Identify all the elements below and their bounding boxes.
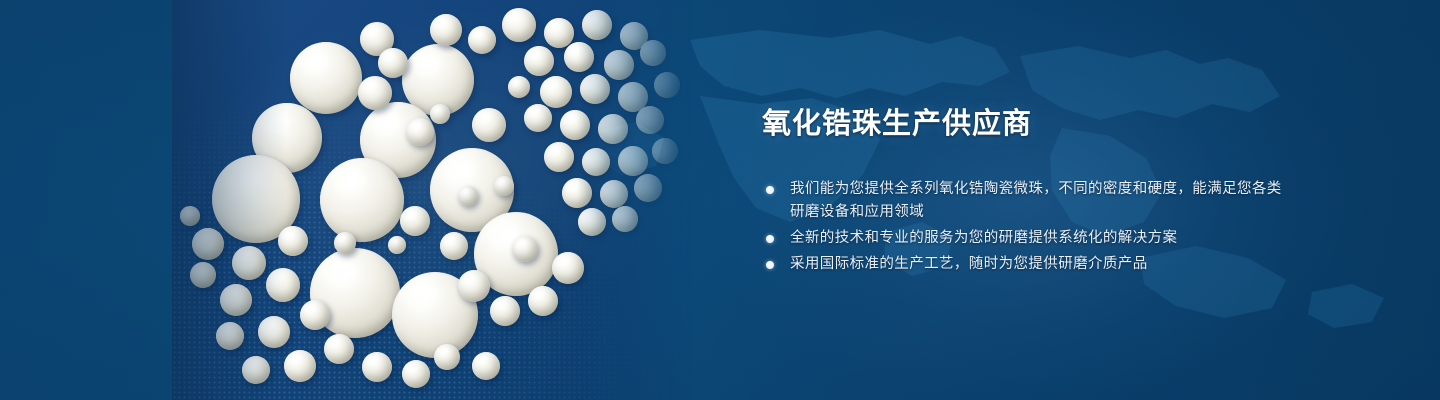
list-item-text: 全新的技术和专业的服务为您的研磨提供系统化的解决方案 [790,230,1177,246]
list-item: 全新的技术和专业的服务为您的研磨提供系统化的解决方案 [762,227,1282,250]
feature-list: 我们能为您提供全系列氧化锆陶瓷微珠，不同的密度和硬度，能满足您各类研磨设备和应用… [762,178,1282,276]
product-photo [172,0,692,400]
list-item-text: 采用国际标准的生产工艺，随时为您提供研磨介质产品 [790,256,1148,272]
dot-bullet-icon [766,186,774,194]
list-item: 采用国际标准的生产工艺，随时为您提供研磨介质产品 [762,253,1282,276]
banner-copy: 氧化锆珠生产供应商 我们能为您提供全系列氧化锆陶瓷微珠，不同的密度和硬度，能满足… [762,104,1282,279]
photo-vignette [172,0,692,400]
hero-banner: 氧化锆珠生产供应商 我们能为您提供全系列氧化锆陶瓷微珠，不同的密度和硬度，能满足… [0,0,1440,400]
list-item: 我们能为您提供全系列氧化锆陶瓷微珠，不同的密度和硬度，能满足您各类研磨设备和应用… [762,178,1282,224]
dot-bullet-icon [766,235,774,243]
page-title: 氧化锆珠生产供应商 [762,104,1282,144]
list-item-text: 我们能为您提供全系列氧化锆陶瓷微珠，不同的密度和硬度，能满足您各类研磨设备和应用… [790,181,1282,220]
dot-bullet-icon [766,261,774,269]
